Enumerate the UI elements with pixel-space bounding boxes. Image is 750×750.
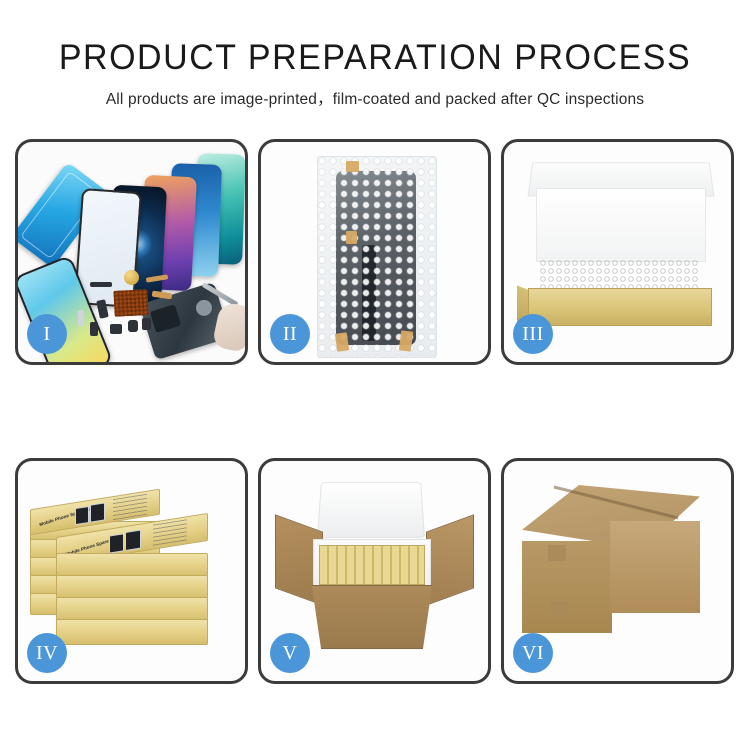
- carton-tape-upper: [548, 545, 566, 561]
- packed-yellow-boxes: [319, 545, 425, 585]
- step-number-badge: I: [27, 314, 67, 354]
- step-number-badge: IV: [27, 633, 67, 673]
- step-number-badge: V: [270, 633, 310, 673]
- process-step-panel-6[interactable]: VI: [501, 458, 734, 684]
- tape-piece-bottom-right: [399, 330, 413, 351]
- carton-flap-right: [426, 514, 474, 605]
- box-print-text-lines: [153, 519, 187, 546]
- foam-lid: [317, 482, 425, 538]
- carton-front-panel: [305, 585, 439, 649]
- stacked-box-front-1: [56, 619, 208, 645]
- bubble-wrapped-contents: [540, 260, 698, 290]
- sim-tray-component: [78, 310, 84, 326]
- process-step-panel-1[interactable]: I: [15, 139, 248, 365]
- tape-piece-bottom-left: [335, 332, 349, 351]
- box-print-phone-1: [109, 533, 124, 553]
- stacked-box-front-4: [56, 553, 208, 577]
- step-number-badge: VI: [513, 633, 553, 673]
- bubble-texture: [318, 157, 436, 357]
- foam-padding-sheet: [536, 188, 706, 262]
- box-print-phone-2: [90, 502, 105, 522]
- stacked-box-front-3: [56, 575, 208, 599]
- box-print-phone-2: [125, 530, 141, 552]
- circuit-grid-component: [113, 289, 148, 317]
- page-title: PRODUCT PREPARATION PROCESS: [11, 40, 739, 75]
- chip-component-1: [90, 282, 112, 287]
- box-print-phone-1: [75, 506, 89, 525]
- tape-piece-top: [346, 161, 359, 172]
- chip-component-6: [142, 318, 151, 330]
- step-number-badge: II: [270, 314, 310, 354]
- page-header: PRODUCT PREPARATION PROCESS All products…: [0, 0, 750, 109]
- process-step-panel-3[interactable]: III: [501, 139, 734, 365]
- chip-component-5: [128, 320, 138, 332]
- stacked-box-front-2: [56, 597, 208, 621]
- step-number-badge: III: [513, 314, 553, 354]
- process-step-grid: I II III: [15, 139, 735, 684]
- box-print-text-lines: [113, 494, 147, 521]
- carton-left-face: [522, 541, 612, 633]
- process-step-panel-4[interactable]: Mobile Phone Spare Parts Mobile Phone Sp…: [15, 458, 248, 684]
- chip-component-4: [110, 324, 122, 334]
- carton-tape-lower: [550, 601, 568, 617]
- bubble-wrap-bag: [317, 156, 437, 358]
- process-step-panel-2[interactable]: II: [258, 139, 491, 365]
- carton-right-face: [610, 521, 700, 613]
- process-step-panel-5[interactable]: V: [258, 458, 491, 684]
- page-subtitle: All products are image-printed，film-coat…: [0, 87, 750, 109]
- yellow-box-base: [528, 288, 712, 326]
- speaker-component: [124, 270, 139, 285]
- chip-component-3: [90, 322, 98, 336]
- tape-piece-middle: [346, 231, 357, 244]
